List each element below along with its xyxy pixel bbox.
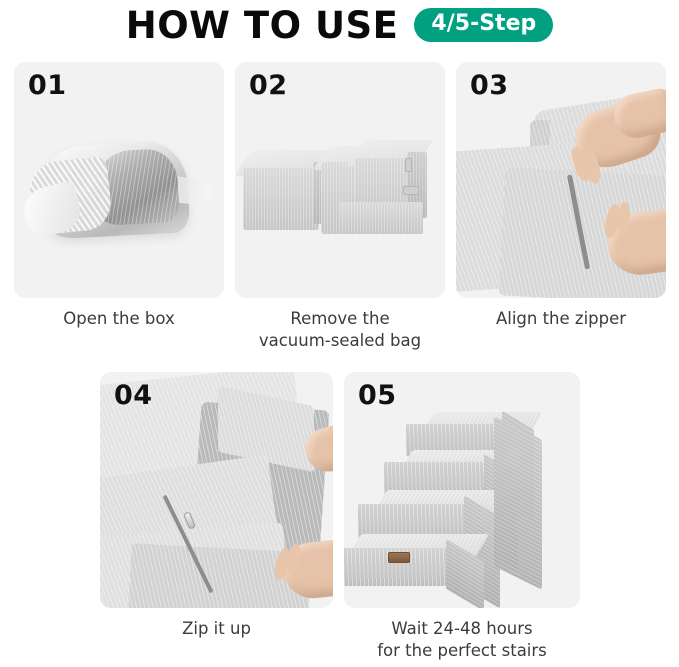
caption-line-1: Align the zipper (456, 308, 666, 330)
caption-line-1: Zip it up (100, 618, 333, 640)
page-title: HOW TO USE (126, 7, 399, 44)
step-caption-02: Remove the vacuum-sealed bag (235, 308, 445, 353)
brand-tag-icon (388, 552, 410, 563)
caption-line-2: for the perfect stairs (344, 640, 580, 662)
step-card-05: 05 (344, 372, 580, 608)
step-count-badge: 4/5-Step (414, 8, 553, 42)
step-card-04: 04 (100, 372, 333, 608)
caption-line-1: Open the box (14, 308, 224, 330)
step-card-01: 01 (14, 62, 224, 298)
step-number-02: 02 (249, 70, 288, 101)
step-caption-04: Zip it up (100, 618, 333, 640)
caption-line-1: Remove the (235, 308, 445, 330)
caption-line-2: vacuum-sealed bag (235, 330, 445, 352)
handle-tag-icon (403, 186, 419, 195)
step-number-04: 04 (114, 380, 153, 411)
step-caption-01: Open the box (14, 308, 224, 330)
step-number-03: 03 (470, 70, 509, 101)
step-caption-05: Wait 24-48 hours for the perfect stairs (344, 618, 580, 663)
step-number-01: 01 (28, 70, 67, 101)
header: HOW TO USE 4/5-Step (0, 0, 679, 50)
step-number-05: 05 (358, 380, 397, 411)
caption-line-1: Wait 24-48 hours (344, 618, 580, 640)
how-to-use-infographic: HOW TO USE 4/5-Step 01 Open the box 02 (0, 0, 679, 667)
handle-tag-icon (405, 158, 412, 172)
step-caption-03: Align the zipper (456, 308, 666, 330)
step-card-02: 02 (235, 62, 445, 298)
step-card-03: 03 (456, 62, 666, 298)
